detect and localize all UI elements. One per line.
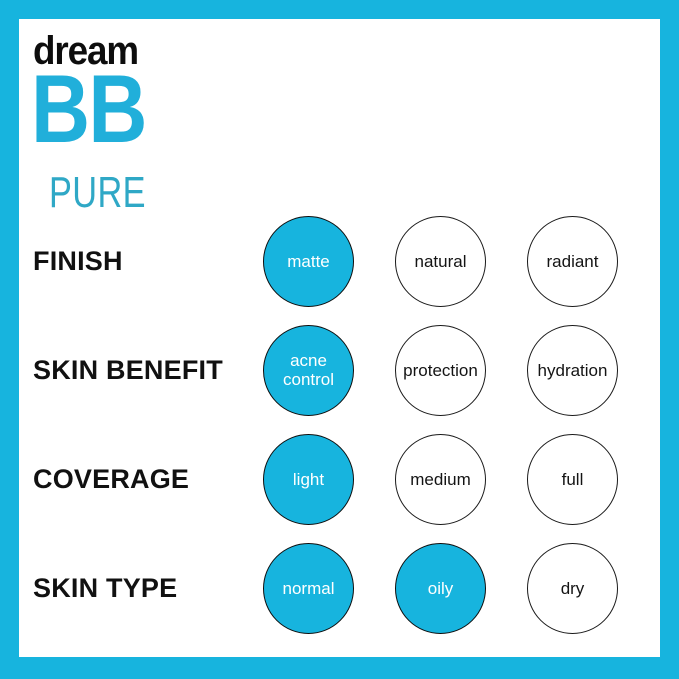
attribute-option-label: full — [562, 470, 584, 489]
attribute-option-label: radiant — [547, 252, 599, 271]
attribute-option-natural[interactable]: natural — [395, 216, 486, 307]
attribute-option-label: oily — [428, 579, 454, 598]
brand-logo: dream BB PURE — [33, 31, 263, 211]
attribute-option-radiant[interactable]: radiant — [527, 216, 618, 307]
attribute-option-label: medium — [410, 470, 470, 489]
attribute-option-normal[interactable]: normal — [263, 543, 354, 634]
attribute-options: matte natural radiant — [19, 209, 660, 313]
attribute-option-dry[interactable]: dry — [527, 543, 618, 634]
attribute-option-label: light — [293, 470, 324, 489]
attribute-row-skin-type: SKIN TYPE normal oily dry — [19, 536, 660, 640]
attribute-option-hydration[interactable]: hydration — [527, 325, 618, 416]
attribute-option-light[interactable]: light — [263, 434, 354, 525]
attribute-option-acne-control[interactable]: acne control — [263, 325, 354, 416]
attribute-option-label: hydration — [538, 361, 608, 380]
product-attribute-card: dream BB PURE FINISH matte natural radia… — [0, 0, 679, 679]
attribute-option-protection[interactable]: protection — [395, 325, 486, 416]
brand-name-bb: BB — [31, 61, 146, 158]
attribute-option-label: acne control — [283, 351, 334, 389]
attribute-option-label: dry — [561, 579, 585, 598]
attribute-row-coverage: COVERAGE light medium full — [19, 427, 660, 531]
attribute-row-skin-benefit: SKIN BENEFIT acne control protection hyd… — [19, 318, 660, 422]
attribute-table: FINISH matte natural radiant SKIN BENEFI… — [19, 209, 660, 657]
attribute-option-medium[interactable]: medium — [395, 434, 486, 525]
attribute-option-label: matte — [287, 252, 330, 271]
attribute-option-label: normal — [283, 579, 335, 598]
attribute-option-full[interactable]: full — [527, 434, 618, 525]
attribute-option-matte[interactable]: matte — [263, 216, 354, 307]
attribute-options: normal oily dry — [19, 536, 660, 640]
attribute-row-finish: FINISH matte natural radiant — [19, 209, 660, 313]
attribute-options: light medium full — [19, 427, 660, 531]
attribute-options: acne control protection hydration — [19, 318, 660, 422]
attribute-option-label: natural — [415, 252, 467, 271]
attribute-option-label: protection — [403, 361, 478, 380]
attribute-option-oily[interactable]: oily — [395, 543, 486, 634]
card-inner-panel: dream BB PURE FINISH matte natural radia… — [19, 19, 660, 657]
